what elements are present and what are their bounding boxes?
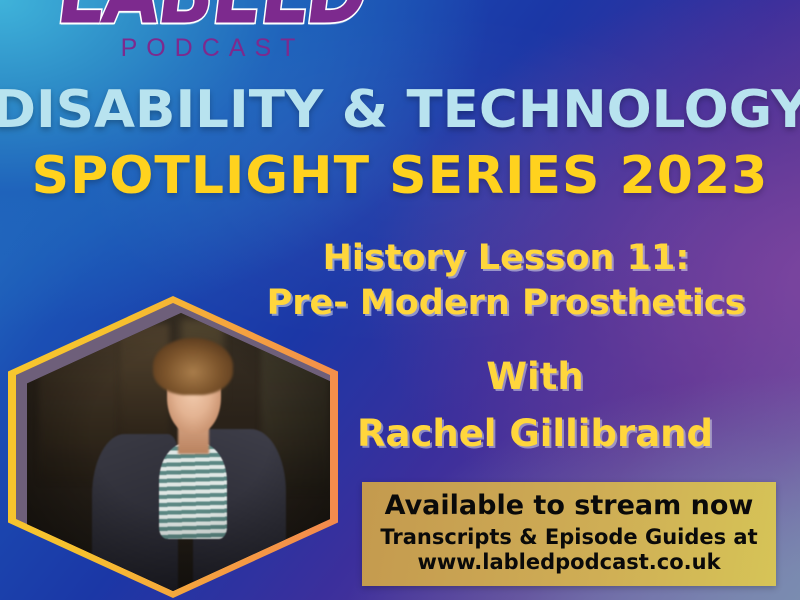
guest-portrait-photo	[27, 313, 335, 595]
availability-headline: Available to stream now	[385, 492, 754, 521]
with-label: With	[300, 355, 770, 398]
photo-vignette	[27, 313, 335, 595]
guest-name: Rachel Gillibrand	[300, 412, 770, 455]
brand-logo: LABELD PODCAST	[58, 0, 358, 63]
guest-portrait-inner-frame	[16, 303, 330, 591]
transcripts-label: Transcripts & Episode Guides at	[380, 524, 757, 550]
logo-wordmark: LABELD	[53, 0, 364, 37]
episode-title-line-2: Pre- Modern Prosthetics	[246, 281, 766, 326]
headline-block: DISABILITY & TECHNOLOGY SPOTLIGHT SERIES…	[0, 84, 800, 202]
guest-portrait-hexagon-frame	[8, 296, 338, 598]
series-title: DISABILITY & TECHNOLOGY	[0, 84, 800, 136]
episode-title-line-1: History Lesson 11:	[246, 236, 766, 281]
website-url[interactable]: www.labledpodcast.co.uk	[417, 550, 720, 575]
series-subtitle: SPOTLIGHT SERIES 2023	[0, 150, 800, 202]
podcast-promo-poster: LABELD PODCAST DISABILITY & TECHNOLOGY S…	[0, 0, 800, 600]
episode-title-block: History Lesson 11: Pre- Modern Prostheti…	[246, 236, 766, 326]
guest-block: With Rachel Gillibrand	[300, 355, 770, 455]
availability-info-box: Available to stream now Transcripts & Ep…	[362, 482, 776, 586]
